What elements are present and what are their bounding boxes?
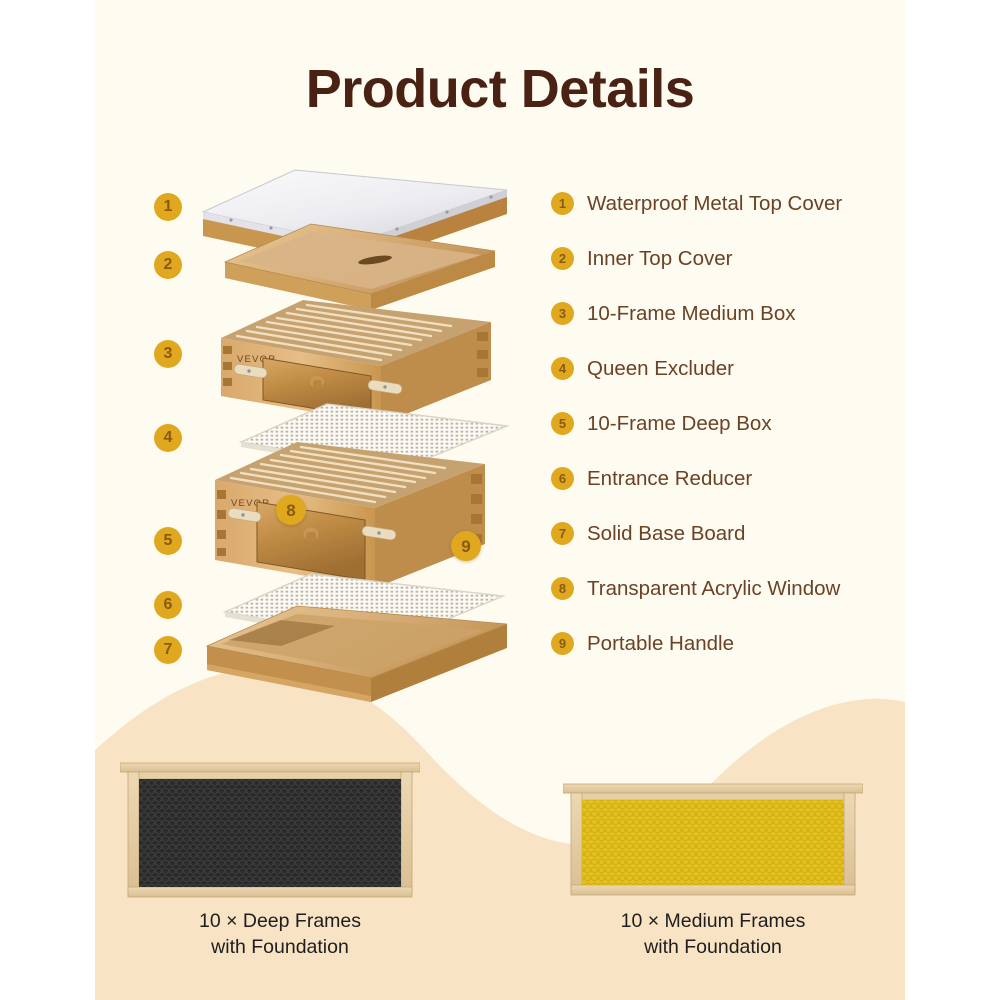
legend-label-4: Queen Excluder: [587, 357, 734, 381]
legend-badge-1: 1: [551, 192, 574, 215]
diagram-marker-4[interactable]: 4: [154, 424, 182, 452]
legend-item-6[interactable]: 6 Entrance Reducer: [551, 451, 901, 506]
legend-badge-6: 6: [551, 467, 574, 490]
legend-item-7[interactable]: 7 Solid Base Board: [551, 506, 901, 561]
diagram-marker-6[interactable]: 6: [154, 591, 182, 619]
medium-frame-caption: 10 × Medium Frames with Foundation: [533, 908, 893, 961]
diagram-marker-9[interactable]: 9: [451, 531, 481, 561]
product-details-infographic: Product Details: [0, 0, 1000, 1000]
diagram-marker-3[interactable]: 3: [154, 340, 182, 368]
diagram-marker-2[interactable]: 2: [154, 251, 182, 279]
legend-badge-7: 7: [551, 522, 574, 545]
deep-frame-image: [120, 755, 420, 910]
legend-item-3[interactable]: 3 10-Frame Medium Box: [551, 286, 901, 341]
deep-box: VEVOR: [215, 442, 485, 588]
deep-frame-caption-line1: 10 × Deep Frames: [199, 910, 361, 932]
legend-label-1: Waterproof Metal Top Cover: [587, 192, 842, 216]
legend-item-5[interactable]: 5 10-Frame Deep Box: [551, 396, 901, 451]
legend-badge-9: 9: [551, 632, 574, 655]
medium-frame-image: [563, 778, 863, 908]
legend-item-4[interactable]: 4 Queen Excluder: [551, 341, 901, 396]
legend-item-2[interactable]: 2 Inner Top Cover: [551, 231, 901, 286]
legend-label-3: 10-Frame Medium Box: [587, 302, 795, 326]
legend-badge-8: 8: [551, 577, 574, 600]
legend-item-9[interactable]: 9 Portable Handle: [551, 616, 901, 671]
page-title: Product Details: [0, 58, 1000, 120]
legend-badge-3: 3: [551, 302, 574, 325]
legend-badge-2: 2: [551, 247, 574, 270]
diagram-marker-7[interactable]: 7: [154, 636, 182, 664]
deep-frame-caption-line2: with Foundation: [211, 936, 349, 958]
legend-label-9: Portable Handle: [587, 632, 734, 656]
legend-item-1[interactable]: 1 Waterproof Metal Top Cover: [551, 176, 901, 231]
diagram-marker-1[interactable]: 1: [154, 193, 182, 221]
medium-frame-caption-line1: 10 × Medium Frames: [621, 910, 806, 932]
legend-label-5: 10-Frame Deep Box: [587, 412, 772, 436]
legend-badge-4: 4: [551, 357, 574, 380]
legend-list: 1 Waterproof Metal Top Cover 2 Inner Top…: [551, 176, 901, 671]
legend-label-2: Inner Top Cover: [587, 247, 732, 271]
legend-label-8: Transparent Acrylic Window: [587, 577, 840, 601]
legend-item-8[interactable]: 8 Transparent Acrylic Window: [551, 561, 901, 616]
medium-frame-caption-line2: with Foundation: [644, 936, 782, 958]
legend-badge-5: 5: [551, 412, 574, 435]
diagram-marker-5[interactable]: 5: [154, 527, 182, 555]
legend-label-7: Solid Base Board: [587, 522, 745, 546]
deep-frame-caption: 10 × Deep Frames with Foundation: [100, 908, 460, 961]
medium-box: VEVOR: [221, 300, 491, 424]
diagram-marker-8[interactable]: 8: [276, 495, 306, 525]
legend-label-6: Entrance Reducer: [587, 467, 752, 491]
beehive-exploded-illustration: VEVOR: [185, 150, 525, 720]
